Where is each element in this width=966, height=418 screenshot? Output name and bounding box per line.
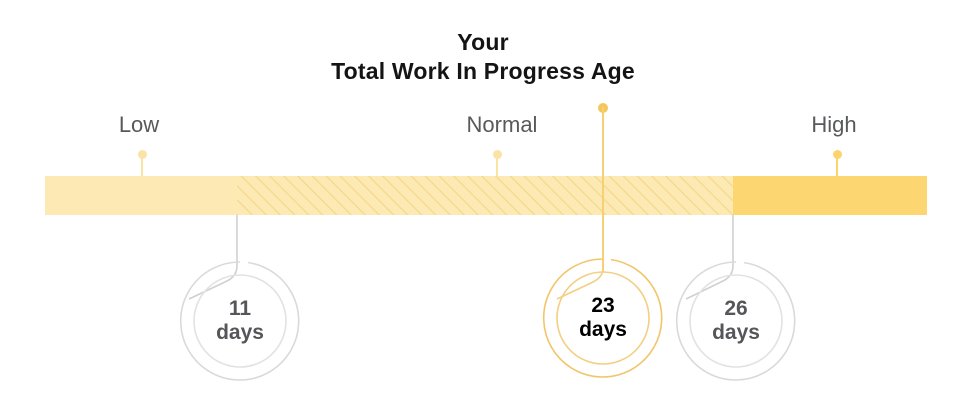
badge-low-text: 11 days <box>178 259 302 383</box>
page-title: Your Total Work In Progress Age <box>0 28 966 86</box>
badge-low-unit: days <box>216 321 264 345</box>
scale-segment-high <box>733 176 927 215</box>
wip-age-scale-chart: Your Total Work In Progress Age Low Norm… <box>0 0 966 418</box>
badge-low-number: 11 <box>229 297 251 321</box>
badge-your-text: 23 days <box>541 256 665 380</box>
scale-label-high: High <box>811 112 856 138</box>
scale-label-low: Low <box>119 112 159 138</box>
badge-high-number: 26 <box>724 297 747 321</box>
badge-your-value: 23 days <box>541 256 665 380</box>
badge-low-value: 11 days <box>178 259 302 383</box>
badge-high-text: 26 days <box>674 259 798 383</box>
scale-bar <box>45 176 927 215</box>
scale-label-normal: Normal <box>467 112 538 138</box>
title-line-1: Your <box>0 28 966 57</box>
pin-your-value-stem <box>602 107 604 272</box>
scale-segment-low <box>45 176 237 215</box>
badge-high-value: 26 days <box>674 259 798 383</box>
scale-segment-normal <box>237 176 733 215</box>
title-line-2: Total Work In Progress Age <box>0 57 966 86</box>
badge-your-unit: days <box>579 318 627 342</box>
badge-your-number: 23 <box>591 294 614 318</box>
badge-high-unit: days <box>712 321 760 345</box>
